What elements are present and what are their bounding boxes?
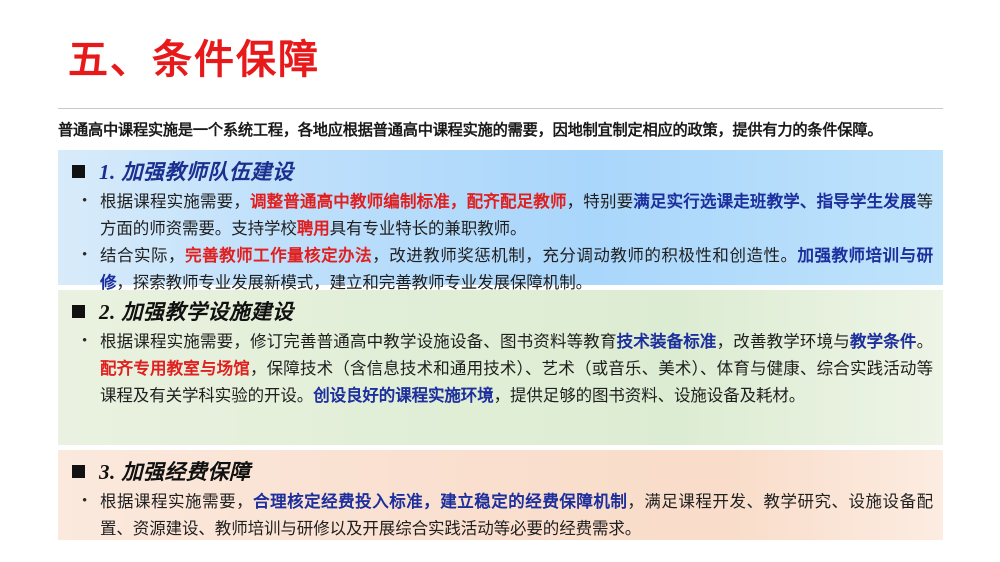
text-run-blue: 技术装备标准 bbox=[617, 332, 717, 351]
bullet-text: 根据课程实施需要，调整普通高中教师编制标准，配齐配足教师，特别要满足实行选课走班… bbox=[100, 188, 933, 242]
text-run-plain: ，特别要 bbox=[567, 192, 634, 211]
text-run-blue: 教学条件 bbox=[850, 332, 917, 351]
bullet-item: • 结合实际，完善教师工作量核定办法，改进教师奖惩机制，充分调动教师的积极性和创… bbox=[68, 242, 933, 296]
bullet-text: 结合实际，完善教师工作量核定办法，改进教师奖惩机制，充分调动教师的积极性和创造性… bbox=[100, 242, 933, 296]
filled-square-bullet-icon bbox=[72, 465, 85, 478]
bullet-item: • 根据课程实施需要，修订完善普通高中教学设施设备、图书资料等教育技术装备标准，… bbox=[68, 328, 933, 409]
page-title: 五、条件保障 bbox=[68, 36, 320, 84]
section-panel-funding-guarantee: 3. 加强经费保障 • 根据课程实施需要，合理核定经费投入标准，建立稳定的经费保… bbox=[58, 450, 943, 540]
bullet-text: 根据课程实施需要，合理核定经费投入标准，建立稳定的经费保障机制，满足课程开发、教… bbox=[100, 488, 933, 542]
title-divider bbox=[58, 108, 943, 109]
dot-bullet-icon: • bbox=[74, 328, 100, 355]
section-heading-label: 1. 加强教师队伍建设 bbox=[99, 156, 294, 186]
text-run-plain: ，提供足够的图书资料、设施设备及耗材。 bbox=[494, 386, 806, 405]
text-run-plain: ，改进教师奖惩机制，充分调动教师的积极性和创造性。 bbox=[372, 246, 797, 265]
text-run-plain: 具有专业特长的兼职教师。 bbox=[330, 219, 527, 238]
text-run-red: 配齐专用教室与场馆 bbox=[100, 359, 250, 378]
text-run-plain: 结合实际， bbox=[100, 246, 185, 265]
section-panel-teaching-facilities: 2. 加强教学设施建设 • 根据课程实施需要，修订完善普通高中教学设施设备、图书… bbox=[58, 290, 943, 445]
text-run-blue: 合理核定经费投入标准，建立稳定的经费保障机制 bbox=[253, 492, 627, 511]
text-run-red: 调整普通高中教师编制标准，配齐配足教师 bbox=[250, 192, 567, 211]
section-heading-row: 3. 加强经费保障 bbox=[68, 456, 933, 486]
bullet-item: • 根据课程实施需要，合理核定经费投入标准，建立稳定的经费保障机制，满足课程开发… bbox=[68, 488, 933, 542]
dot-bullet-icon: • bbox=[74, 488, 100, 515]
section-heading-row: 2. 加强教学设施建设 bbox=[68, 296, 933, 326]
dot-bullet-icon: • bbox=[74, 242, 100, 269]
text-run-plain: 根据课程实施需要， bbox=[100, 492, 253, 511]
text-run-plain: 。 bbox=[917, 332, 933, 351]
text-run-plain: 根据课程实施需要，修订完善普通高中教学设施设备、图书资料等教育 bbox=[100, 332, 617, 351]
section-heading-label: 3. 加强经费保障 bbox=[99, 456, 251, 486]
bullet-item: • 根据课程实施需要，调整普通高中教师编制标准，配齐配足教师，特别要满足实行选课… bbox=[68, 188, 933, 242]
lead-paragraph: 普通高中课程实施是一个系统工程，各地应根据普通高中课程实施的需要，因地制宜制定相… bbox=[58, 118, 948, 140]
text-run-red: 完善教师工作量核定办法 bbox=[185, 246, 372, 265]
text-run-blue: 满足实行选课走班教学、指导学生发展 bbox=[633, 192, 916, 211]
text-run-plain: 根据课程实施需要， bbox=[100, 192, 250, 211]
slide-canvas: 五、条件保障 普通高中课程实施是一个系统工程，各地应根据普通高中课程实施的需要，… bbox=[0, 0, 1000, 562]
text-run-blue: 创设良好的课程实施环境 bbox=[313, 386, 493, 405]
filled-square-bullet-icon bbox=[72, 305, 85, 318]
section-heading-row: 1. 加强教师队伍建设 bbox=[68, 156, 933, 186]
section-panel-teacher-team: 1. 加强教师队伍建设 • 根据课程实施需要，调整普通高中教师编制标准，配齐配足… bbox=[58, 150, 943, 285]
dot-bullet-icon: • bbox=[74, 188, 100, 215]
text-run-plain: ，改善教学环境与 bbox=[717, 332, 850, 351]
text-run-red: 聘用 bbox=[297, 219, 330, 238]
filled-square-bullet-icon bbox=[72, 165, 85, 178]
section-heading-label: 2. 加强教学设施建设 bbox=[99, 296, 294, 326]
bullet-text: 根据课程实施需要，修订完善普通高中教学设施设备、图书资料等教育技术装备标准，改善… bbox=[100, 328, 933, 409]
